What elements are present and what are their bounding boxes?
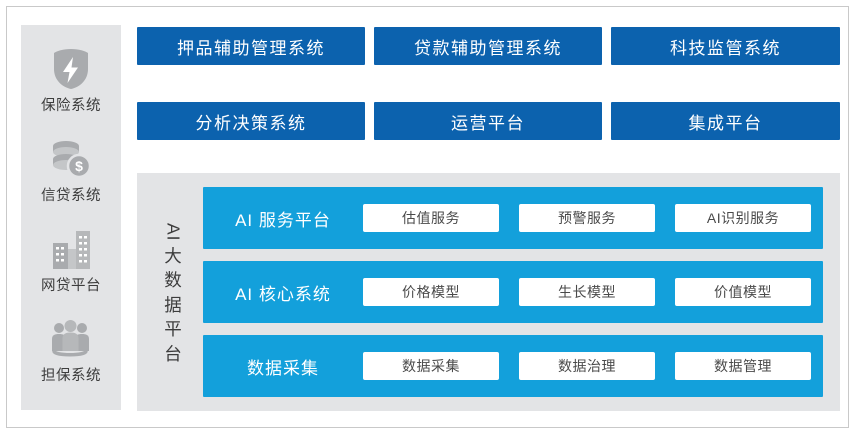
platform-row-chips: 数据采集 数据治理 数据管理 <box>363 352 823 380</box>
system-bar-analysis-decision[interactable]: 分析决策系统 <box>137 102 365 140</box>
chip-data-governance[interactable]: 数据治理 <box>519 352 655 380</box>
system-bar-collateral-management[interactable]: 押品辅助管理系统 <box>137 27 365 65</box>
system-bar-label: 贷款辅助管理系统 <box>414 34 562 59</box>
vertical-title-char: AI <box>161 222 186 241</box>
system-bar-operations-platform[interactable]: 运营平台 <box>374 102 602 140</box>
sidebar-item-guarantee[interactable]: 担保系统 <box>21 315 121 385</box>
sidebar: 保险系统 $ 信贷系统 <box>21 25 121 410</box>
shield-bolt-icon <box>21 45 121 93</box>
vertical-title-char: 据 <box>164 293 182 318</box>
chip-data-management[interactable]: 数据管理 <box>675 352 811 380</box>
platform-row-title: 数据采集 <box>203 354 363 379</box>
chip-ai-recognition-service[interactable]: AI识别服务 <box>675 204 811 232</box>
sidebar-item-online-loan[interactable]: 网贷平台 <box>21 225 121 295</box>
platform-row-data-collection[interactable]: 数据采集 数据采集 数据治理 数据管理 <box>203 335 823 397</box>
chip-price-model[interactable]: 价格模型 <box>363 278 499 306</box>
coins-dollar-icon: $ <box>21 135 121 183</box>
sidebar-item-insurance[interactable]: 保险系统 <box>21 45 121 115</box>
platform-row-title: AI 服务平台 <box>203 206 363 231</box>
sidebar-item-label: 信贷系统 <box>21 187 121 205</box>
system-bar-tech-supervision[interactable]: 科技监管系统 <box>611 27 840 65</box>
system-bar-label: 科技监管系统 <box>670 34 781 59</box>
system-bar-label: 分析决策系统 <box>196 109 307 134</box>
system-bar-label: 押品辅助管理系统 <box>177 34 325 59</box>
vertical-title-char: 数 <box>164 269 182 294</box>
chip-valuation-service[interactable]: 估值服务 <box>363 204 499 232</box>
vertical-title-char: 台 <box>164 342 182 367</box>
infographic-root: 保险系统 $ 信贷系统 <box>0 0 857 444</box>
system-bar-label: 集成平台 <box>689 109 763 134</box>
system-bar-integration-platform[interactable]: 集成平台 <box>611 102 840 140</box>
platform-row-ai-core[interactable]: AI 核心系统 价格模型 生长模型 价值模型 <box>203 261 823 323</box>
vertical-title-char: 平 <box>164 318 182 343</box>
sidebar-item-label: 担保系统 <box>21 367 121 385</box>
platform-row-title: AI 核心系统 <box>203 280 363 305</box>
platform-row-chips: 估值服务 预警服务 AI识别服务 <box>363 204 823 232</box>
sidebar-item-label: 网贷平台 <box>21 277 121 295</box>
system-bar-loan-management[interactable]: 贷款辅助管理系统 <box>374 27 602 65</box>
chip-alert-service[interactable]: 预警服务 <box>519 204 655 232</box>
sidebar-item-credit[interactable]: $ 信贷系统 <box>21 135 121 205</box>
chip-growth-model[interactable]: 生长模型 <box>519 278 655 306</box>
people-group-icon <box>21 315 121 363</box>
platform-row-ai-service[interactable]: AI 服务平台 估值服务 预警服务 AI识别服务 <box>203 187 823 249</box>
system-bar-label: 运营平台 <box>451 109 525 134</box>
buildings-icon <box>21 225 121 273</box>
chip-value-model[interactable]: 价值模型 <box>675 278 811 306</box>
vertical-title-char: 大 <box>164 244 182 269</box>
ai-bigdata-platform-panel: AI 大 数 据 平 台 AI 服务平台 估值服务 预警服务 AI识别服务 AI… <box>137 173 840 411</box>
sidebar-item-label: 保险系统 <box>21 97 121 115</box>
chip-data-collection[interactable]: 数据采集 <box>363 352 499 380</box>
platform-vertical-title: AI 大 数 据 平 台 <box>155 187 191 399</box>
platform-row-chips: 价格模型 生长模型 价值模型 <box>363 278 823 306</box>
svg-text:$: $ <box>75 158 83 174</box>
